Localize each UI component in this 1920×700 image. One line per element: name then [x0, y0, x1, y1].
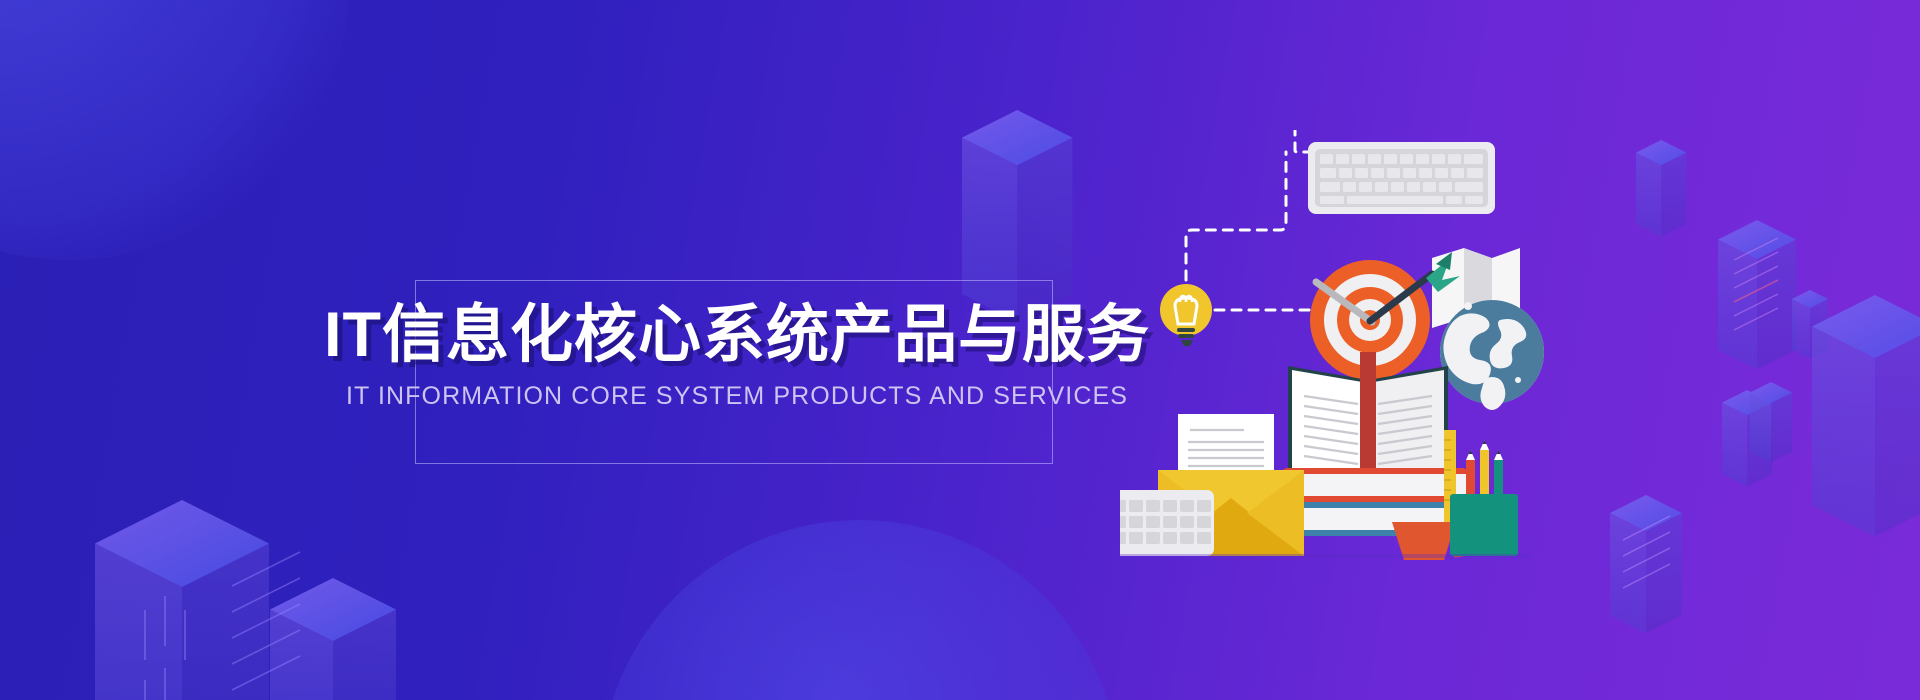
- headline-text-group: IT信息化核心系统产品与服务 IT INFORMATION CORE SYSTE…: [297, 302, 1177, 411]
- it-desk-workspace-illustration: [1120, 130, 1550, 590]
- stacked-book-red-icon: [1280, 468, 1470, 502]
- page-title: IT信息化核心系统产品与服务: [297, 302, 1177, 368]
- globe-icon: [1440, 300, 1544, 410]
- pencil-holder-icon: [1444, 430, 1518, 556]
- illustration-svg: [1120, 130, 1550, 590]
- keyboard-left-icon: [1120, 490, 1214, 556]
- hero-banner: IT信息化核心系统产品与服务 IT INFORMATION CORE SYSTE…: [0, 0, 1920, 700]
- page-subtitle: IT INFORMATION CORE SYSTEM PRODUCTS AND …: [297, 382, 1177, 411]
- keyboard-top-icon: [1308, 142, 1495, 214]
- headline-block: IT信息化核心系统产品与服务 IT INFORMATION CORE SYSTE…: [415, 280, 1053, 464]
- lightbulb-icon: [1160, 284, 1212, 346]
